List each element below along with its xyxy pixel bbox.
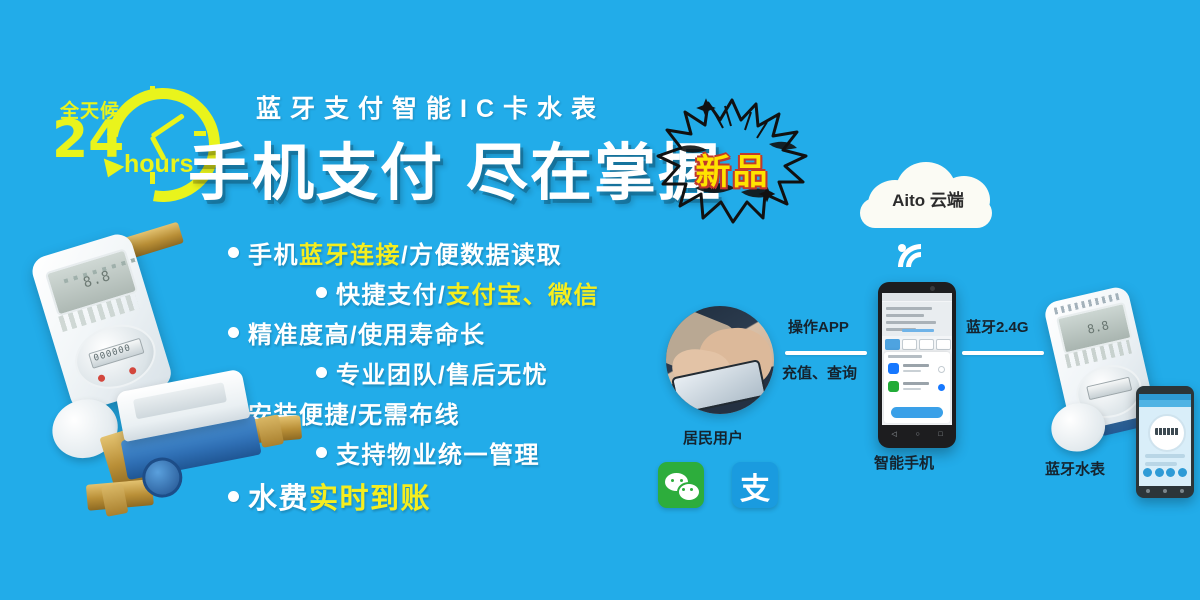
meter-lcd-value: 8.8	[1086, 318, 1110, 337]
app-button[interactable]	[885, 339, 900, 350]
app-action-button[interactable]	[1155, 468, 1164, 477]
app-action-buttons[interactable]	[1143, 468, 1187, 480]
app-titlebar	[882, 293, 952, 301]
bullet-dot-icon	[316, 447, 327, 458]
burst-label: 新品	[655, 144, 810, 195]
recents-icon[interactable]	[1180, 489, 1184, 493]
label-bluetooth-24g: 蓝牙2.4G	[966, 316, 1029, 337]
recents-icon[interactable]: □	[938, 431, 942, 438]
wifi-icon	[898, 244, 944, 280]
app-button[interactable]	[919, 339, 934, 350]
meter-red-marker	[97, 374, 106, 383]
list-item: 手机蓝牙连接/方便数据读取	[228, 232, 698, 272]
clock-tick-icon	[150, 86, 155, 98]
sheet-title	[888, 355, 922, 358]
new-product-burst: 新品	[655, 96, 810, 226]
alipay-icon[interactable]: 支	[732, 462, 778, 508]
meter-reading-digits	[1155, 428, 1179, 435]
meter-reading-dial	[1148, 414, 1186, 452]
meter-app-screen	[1139, 394, 1191, 486]
alipay-glyph: 支	[732, 464, 778, 508]
home-icon[interactable]: ○	[915, 431, 919, 438]
cloud-node: Aito 云端	[858, 158, 998, 230]
app-link[interactable]	[902, 329, 934, 332]
payment-sheet	[884, 352, 950, 423]
list-item-label: 快捷支付/支付宝、微信	[336, 275, 599, 310]
bullet-dot-icon	[228, 247, 239, 258]
smartphone-device: ◁ ○ □	[878, 282, 956, 448]
phone-screen	[882, 293, 952, 425]
resident-user-photo	[666, 306, 774, 414]
meter-window	[133, 382, 227, 419]
phone-navbar[interactable]	[1139, 487, 1191, 495]
confirm-payment-button[interactable]	[891, 407, 943, 418]
back-icon[interactable]	[1146, 489, 1150, 493]
phone-camera-icon	[930, 286, 935, 291]
page-title: 手机支付尽在掌握	[188, 122, 722, 212]
payment-option-alipay[interactable]	[888, 362, 946, 375]
payment-icon-group: 支	[658, 462, 798, 512]
meter-odometer: 000000	[88, 338, 144, 369]
meter-app-phone	[1136, 386, 1194, 498]
banner-subtitle: 蓝牙支付智能IC卡水表	[256, 89, 605, 125]
badge-number: 24	[52, 114, 124, 166]
meter-red-marker	[128, 366, 137, 375]
promo-banner: 全天候 24 hours 蓝牙支付智能IC卡水表 手机支付尽在掌握 新品 手机蓝…	[0, 0, 1200, 600]
app-row	[1145, 454, 1185, 458]
bullet-dot-icon	[316, 287, 327, 298]
app-button[interactable]	[936, 339, 951, 350]
all-day-24hours-badge: 全天候 24 hours	[48, 84, 208, 196]
app-button-row[interactable]	[885, 339, 949, 348]
title-left: 手机支付	[188, 139, 444, 208]
list-item-label: 专业团队/售后无忧	[336, 355, 548, 390]
connector-line-phone-to-meter	[962, 351, 1044, 355]
app-action-button[interactable]	[1143, 468, 1152, 477]
app-button[interactable]	[902, 339, 917, 350]
wechat-pay-icon	[888, 381, 899, 392]
meter-odometer	[1086, 377, 1132, 401]
list-item-label: 手机蓝牙连接/方便数据读取	[248, 235, 562, 270]
list-item: 快捷支付/支付宝、微信	[228, 272, 698, 312]
list-item-label: 支持物业统一管理	[336, 435, 540, 470]
connector-line-user-to-phone	[785, 351, 867, 355]
app-action-button[interactable]	[1166, 468, 1175, 477]
bullet-dot-icon	[228, 327, 239, 338]
app-action-button[interactable]	[1178, 468, 1187, 477]
label-smartphone: 智能手机	[874, 452, 934, 473]
list-item: 精准度高/使用寿命长	[228, 312, 698, 352]
payment-option-wechat[interactable]	[888, 380, 946, 393]
alipay-icon	[888, 363, 899, 374]
list-item: 专业团队/售后无忧	[228, 352, 698, 392]
app-row	[1145, 462, 1177, 466]
app-tabbar[interactable]	[1139, 400, 1191, 407]
label-operate-app: 操作APP	[788, 316, 849, 337]
label-resident-user: 居民用户	[683, 427, 743, 448]
wechat-pay-icon[interactable]	[658, 462, 704, 508]
home-icon[interactable]	[1163, 489, 1167, 493]
badge-unit: hours	[124, 150, 193, 179]
phone-navbar[interactable]: ◁ ○ □	[882, 428, 952, 440]
bullet-dot-icon	[316, 367, 327, 378]
cloud-label: Aito 云端	[858, 186, 998, 211]
back-icon[interactable]: ◁	[891, 430, 896, 438]
label-recharge-query: 充值、查询	[782, 362, 857, 383]
list-item-label: 精准度高/使用寿命长	[248, 315, 486, 350]
